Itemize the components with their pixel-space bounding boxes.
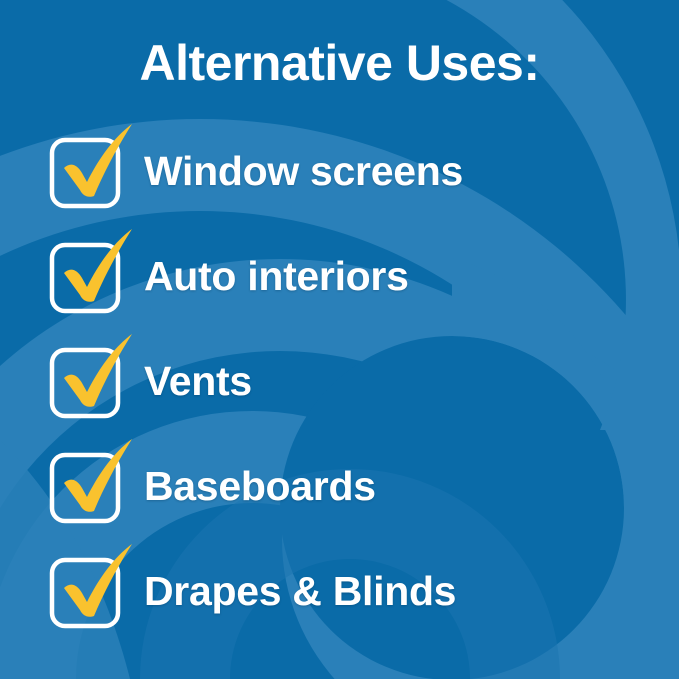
checkbox-1[interactable] — [48, 138, 122, 212]
list-item-label: Window screens — [144, 134, 463, 208]
promo-graphic-canvas: Alternative Uses: Window screens — [0, 0, 679, 679]
yellow-checkmark-in-box-icon — [46, 326, 142, 422]
yellow-checkmark-in-box-icon — [46, 536, 142, 632]
yellow-checkmark-in-box-icon — [46, 116, 142, 212]
page-title: Alternative Uses: — [0, 34, 679, 92]
foreground-content: Alternative Uses: Window screens — [0, 0, 679, 679]
checkbox-2[interactable] — [48, 243, 122, 317]
list-item-label: Vents — [144, 344, 252, 418]
list-item[interactable]: Drapes & Blinds — [48, 554, 668, 659]
yellow-checkmark-in-box-icon — [46, 431, 142, 527]
checkbox-3[interactable] — [48, 348, 122, 422]
checkbox-4[interactable] — [48, 453, 122, 527]
alternative-uses-checklist: Window screens Auto interiors — [48, 134, 668, 659]
list-item-label: Drapes & Blinds — [144, 554, 456, 628]
checkbox-5[interactable] — [48, 558, 122, 632]
list-item-label: Baseboards — [144, 449, 376, 523]
yellow-checkmark-in-box-icon — [46, 221, 142, 317]
list-item-label: Auto interiors — [144, 239, 409, 313]
